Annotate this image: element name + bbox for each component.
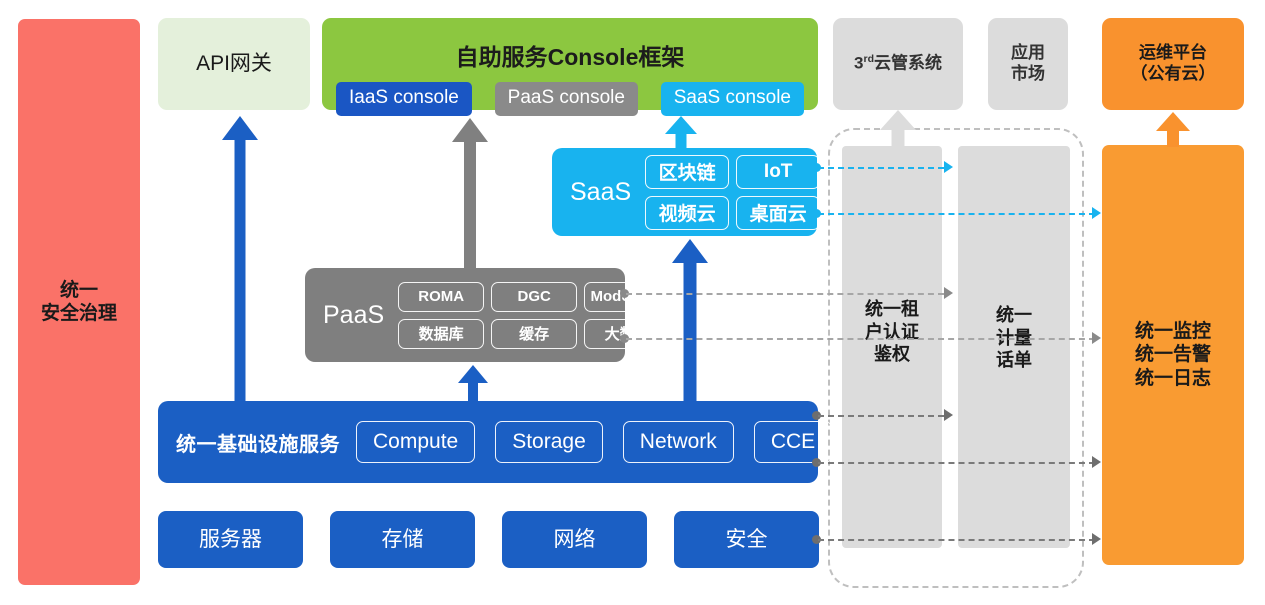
connector-arrowhead-infra-to-auth: [944, 409, 953, 421]
saas-label: SaaS: [552, 178, 631, 207]
app-market-line-1: 应用: [1011, 43, 1045, 64]
connector-saas-to-ops: [818, 213, 1095, 215]
ops-panel-line-1: 统一监控: [1135, 320, 1211, 343]
layer-saas: SaaS 区块链 IoT 视频云 桌面云: [552, 148, 817, 236]
arrow-up-ops-panel-to-ops-platform: [1156, 112, 1190, 147]
api-gateway-label: API网关: [196, 51, 272, 77]
ops-panel-line-2: 统一告警: [1135, 343, 1211, 366]
auth-line-3: 鉴权: [842, 343, 942, 366]
connector-infra-to-auth: [818, 415, 944, 417]
hardware-item-server[interactable]: 服务器: [158, 511, 303, 568]
box-ops-platform-public-cloud[interactable]: 运维平台 （公有云）: [1102, 18, 1244, 110]
connector-paas-to-auth: [626, 293, 944, 295]
saas-item-video-cloud[interactable]: 视频云: [645, 196, 729, 230]
architecture-diagram: 统一 安全治理 API网关 自助服务Console框架 IaaS console…: [0, 0, 1265, 605]
paas-item-bigdata[interactable]: 大数据: [584, 319, 670, 349]
layer-paas: PaaS ROMA DGC ModelArts 数据库 缓存 大数据: [305, 268, 625, 362]
column-unified-metering[interactable]: 统一 计量 话单: [958, 146, 1070, 548]
connector-arrowhead-saas-to-auth: [944, 161, 953, 173]
box-console-framework: 自助服务Console框架 IaaS console PaaS console …: [322, 18, 818, 110]
arrow-up-infra-to-paas: [458, 365, 488, 402]
connector-arrowhead-saas-to-ops: [1092, 207, 1101, 219]
iaas-item-storage[interactable]: Storage: [495, 421, 603, 463]
arrow-up-infra-to-saas: [672, 239, 708, 402]
metering-line-1: 统一: [958, 304, 1070, 327]
ops-platform-line-2: （公有云）: [1131, 64, 1216, 85]
box-app-market[interactable]: 应用 市场: [988, 18, 1068, 110]
badge-iaas-console[interactable]: IaaS console: [336, 82, 472, 116]
hardware-network-label: 网络: [554, 527, 596, 553]
iaas-item-cce[interactable]: CCE: [754, 421, 832, 463]
paas-item-cache[interactable]: 缓存: [491, 319, 577, 349]
paas-label: PaaS: [305, 301, 384, 330]
console-badge-row: IaaS console PaaS console SaaS console: [336, 82, 804, 116]
hardware-security-label: 安全: [726, 527, 768, 553]
box-third-party-cloud-mgmt[interactable]: 3rd云管系统: [833, 18, 963, 110]
connector-arrowhead-paas-to-auth: [944, 287, 953, 299]
security-line-2: 安全治理: [41, 302, 117, 325]
paas-item-database[interactable]: 数据库: [398, 319, 484, 349]
connector-arrowhead-paas-to-ops: [1092, 332, 1101, 344]
badge-saas-console[interactable]: SaaS console: [661, 82, 804, 116]
hardware-item-network[interactable]: 网络: [502, 511, 647, 568]
column-unified-tenant-auth[interactable]: 统一租 户认证 鉴权: [842, 146, 942, 548]
connector-infra-to-ops: [818, 462, 1095, 464]
ops-platform-line-1: 运维平台: [1131, 43, 1216, 64]
paas-item-dgc[interactable]: DGC: [491, 282, 577, 312]
box-api-gateway[interactable]: API网关: [158, 18, 310, 110]
auth-line-1: 统一租: [842, 298, 942, 321]
third-party-suffix: 云管系统: [874, 54, 942, 73]
third-party-sup: rd: [863, 53, 874, 65]
layer-unified-infrastructure: 统一基础设施服务 Compute Storage Network CCE: [158, 401, 818, 483]
arrow-up-shared-to-third-party: [880, 110, 916, 146]
ops-panel-line-3: 统一日志: [1135, 367, 1211, 390]
security-line-1: 统一: [41, 279, 117, 302]
connector-hardware-to-ops: [818, 539, 1095, 541]
paas-item-roma[interactable]: ROMA: [398, 282, 484, 312]
saas-item-iot[interactable]: IoT: [736, 155, 820, 189]
saas-item-blockchain[interactable]: 区块链: [645, 155, 729, 189]
hardware-server-label: 服务器: [199, 527, 262, 553]
iaas-item-network[interactable]: Network: [623, 421, 734, 463]
connector-paas-to-ops: [626, 338, 1095, 340]
connector-arrowhead-hardware-to-ops: [1092, 533, 1101, 545]
iaas-item-compute[interactable]: Compute: [356, 421, 475, 463]
metering-line-3: 话单: [958, 349, 1070, 372]
app-market-line-2: 市场: [1011, 64, 1045, 85]
arrow-up-infra-to-api-gateway: [222, 116, 258, 402]
connector-arrowhead-infra-to-ops: [1092, 456, 1101, 468]
iaas-label: 统一基础设施服务: [158, 428, 340, 457]
badge-paas-console[interactable]: PaaS console: [495, 82, 638, 116]
panel-unified-ops: 统一监控 统一告警 统一日志: [1102, 145, 1244, 565]
hardware-item-security[interactable]: 安全: [674, 511, 819, 568]
connector-saas-to-auth: [818, 167, 944, 169]
panel-unified-security: 统一 安全治理: [18, 19, 140, 585]
arrow-up-saas-to-console: [665, 116, 697, 149]
hardware-item-storage[interactable]: 存储: [330, 511, 475, 568]
console-framework-title: 自助服务Console框架: [322, 38, 818, 72]
arrow-up-paas-to-console: [452, 118, 488, 269]
saas-item-desktop-cloud[interactable]: 桌面云: [736, 196, 820, 230]
hardware-storage-label: 存储: [382, 527, 424, 553]
